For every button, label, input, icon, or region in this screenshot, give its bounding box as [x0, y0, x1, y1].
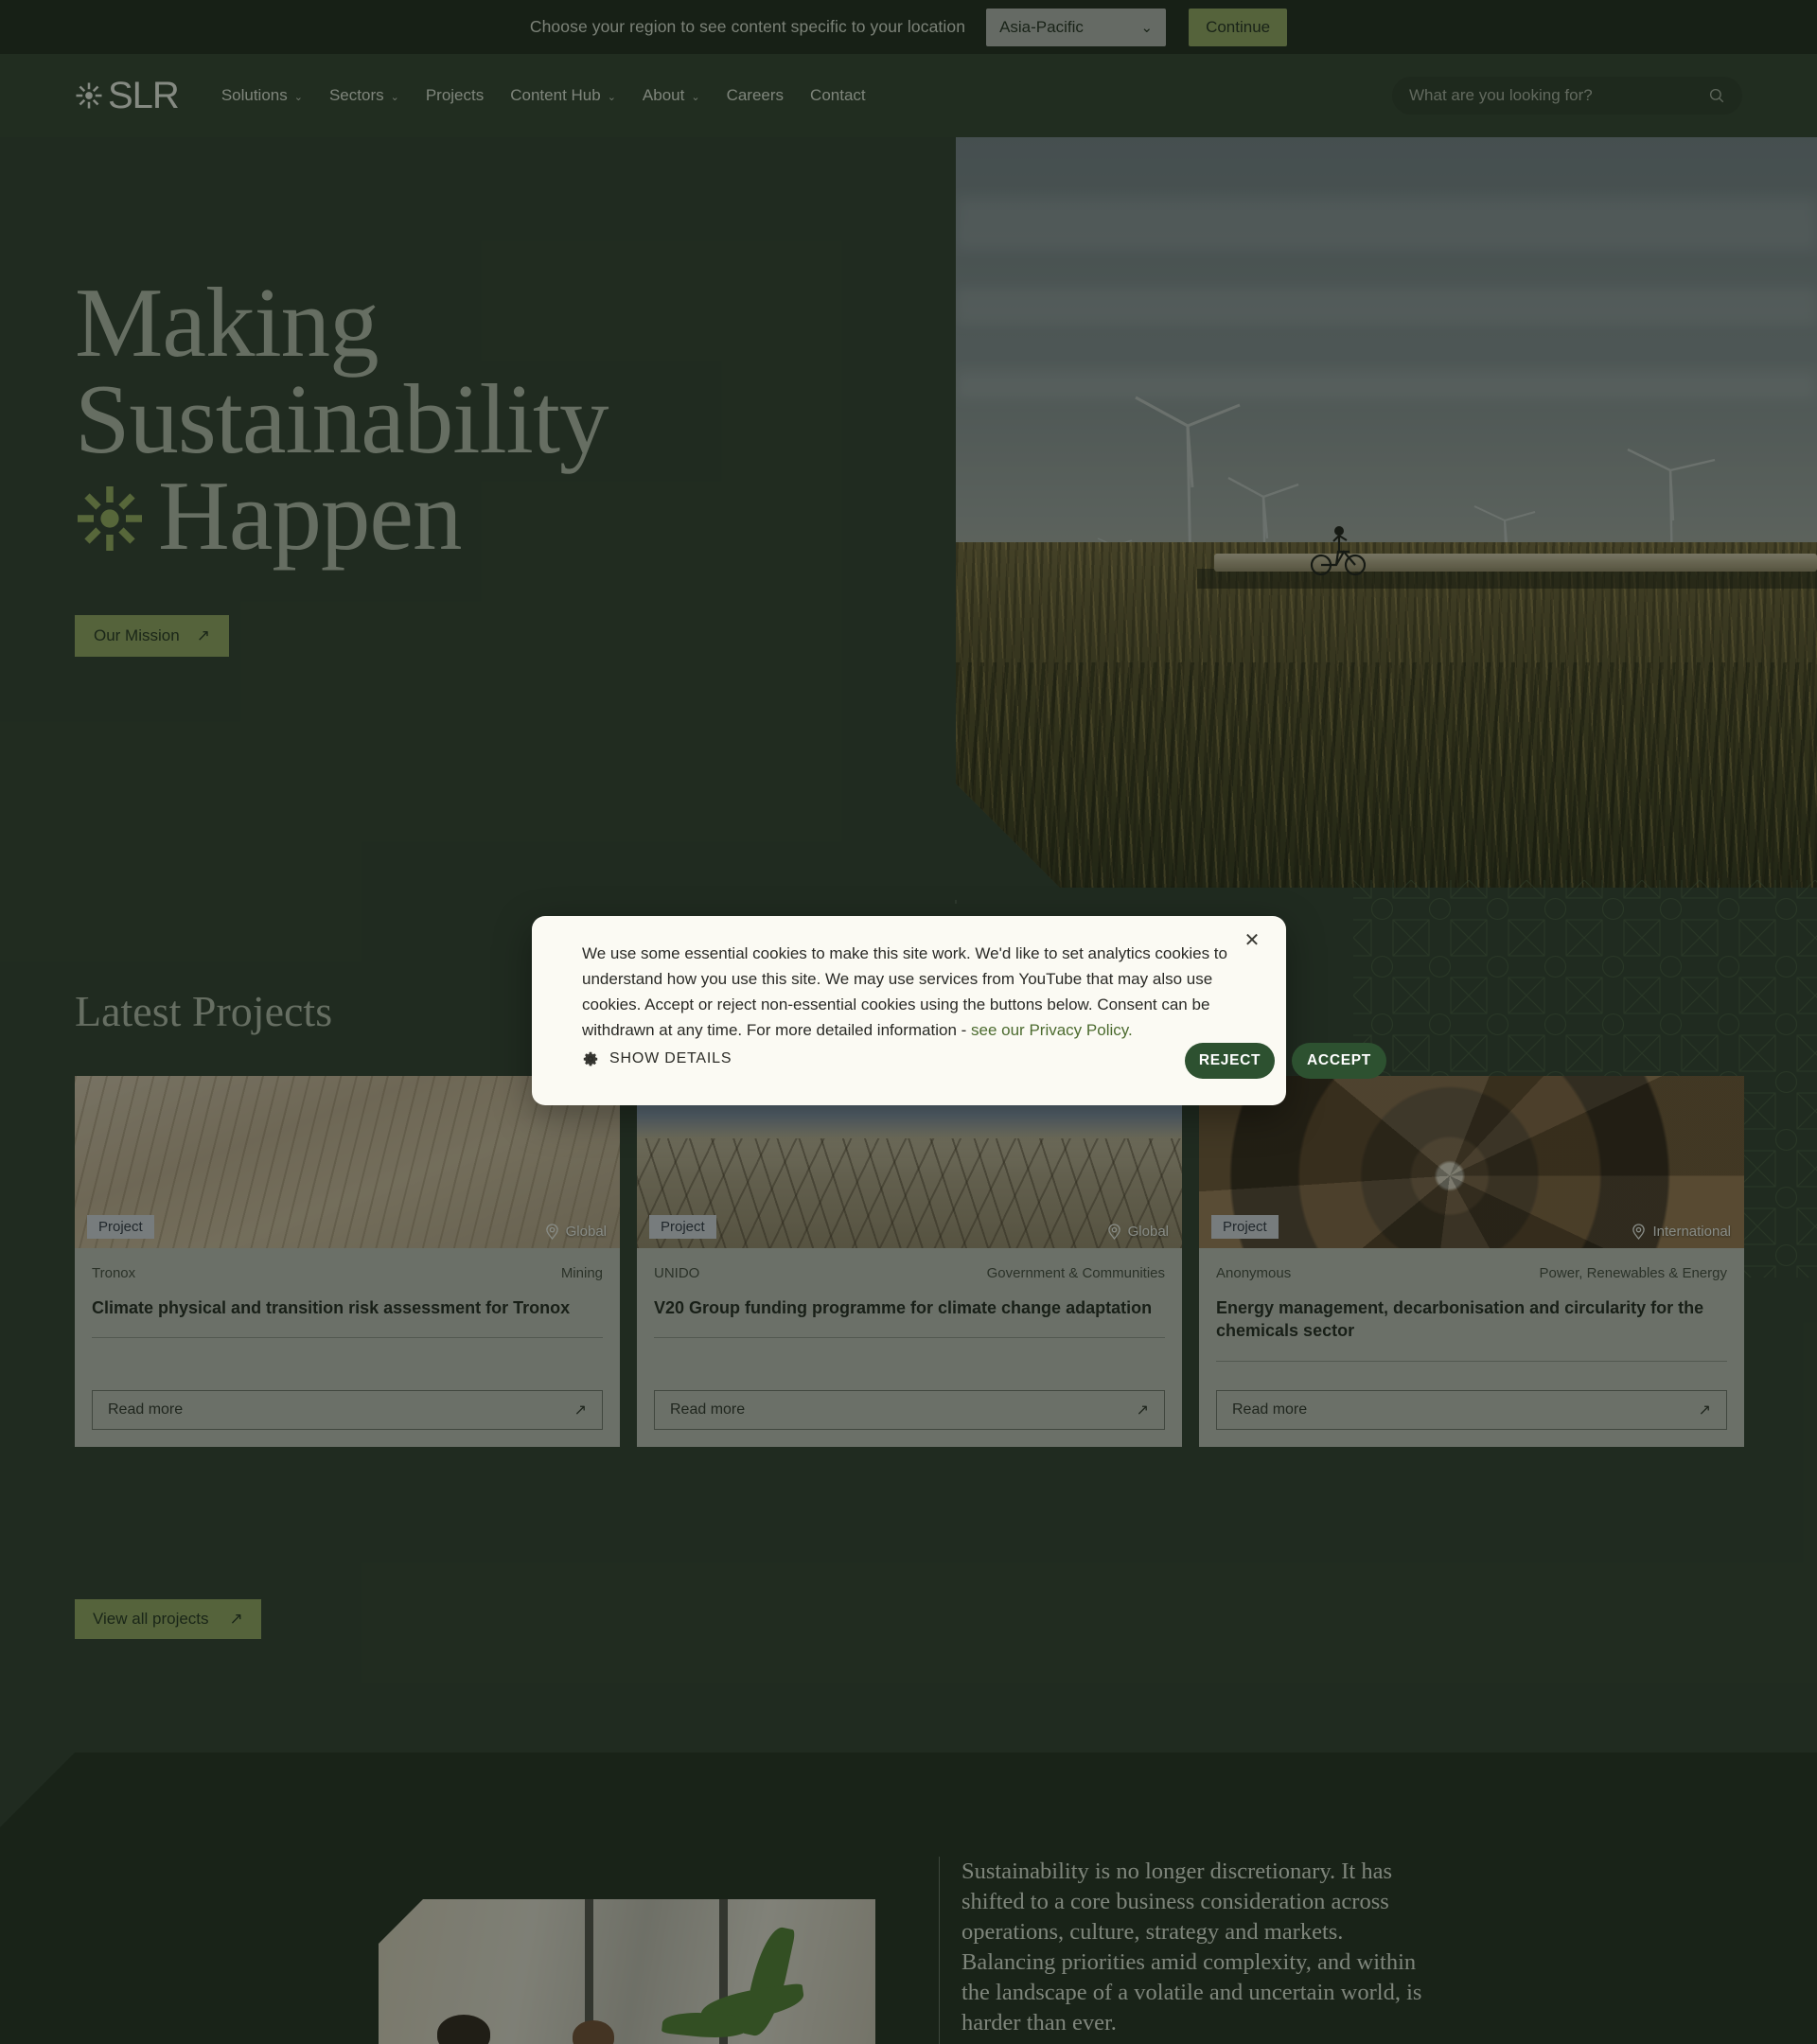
- cookie-consent-banner: ✕ We use some essential cookies to make …: [532, 916, 1286, 1105]
- intro-section: [0, 1753, 1817, 2044]
- view-all-projects-label: View all projects: [93, 1610, 209, 1629]
- nav-label: Contact: [810, 86, 866, 105]
- show-details-button[interactable]: SHOW DETAILS: [582, 1050, 732, 1067]
- project-location: International: [1632, 1224, 1731, 1240]
- divider: [654, 1337, 1165, 1338]
- arrow-up-right-icon: ↗: [1137, 1401, 1149, 1419]
- project-title: Energy management, decarbonisation and c…: [1216, 1296, 1727, 1343]
- close-icon[interactable]: ✕: [1239, 927, 1265, 954]
- intro-text-block: Sustainability is no longer discretionar…: [961, 1857, 1435, 2044]
- project-card-body: UNIDO Government & Communities V20 Group…: [637, 1248, 1182, 1390]
- search-icon[interactable]: [1708, 87, 1725, 104]
- person-head: [437, 2015, 490, 2044]
- hero-image: [956, 137, 1817, 888]
- chevron-down-icon: ⌄: [294, 91, 303, 103]
- project-card-meta: Tronox Mining: [92, 1265, 603, 1281]
- intro-image: [379, 1899, 875, 2044]
- view-all-projects-button[interactable]: View all projects ↗: [75, 1599, 261, 1639]
- our-mission-button[interactable]: Our Mission ↗: [75, 615, 229, 657]
- region-continue-button[interactable]: Continue: [1189, 9, 1287, 46]
- section-title-latest-projects: Latest Projects: [75, 986, 332, 1036]
- chevron-down-icon: ⌄: [391, 91, 399, 103]
- project-location: Global: [545, 1224, 607, 1240]
- read-more-button[interactable]: Read more ↗: [1216, 1390, 1727, 1430]
- read-more-button[interactable]: Read more ↗: [92, 1390, 603, 1430]
- nav-item-content-hub[interactable]: Content Hub ⌄: [497, 86, 629, 105]
- location-label: Global: [1128, 1224, 1169, 1240]
- region-prompt-text: Choose your region to see content specif…: [530, 17, 965, 37]
- project-card-body: Anonymous Power, Renewables & Energy Ene…: [1199, 1248, 1744, 1390]
- nav-item-contact[interactable]: Contact: [797, 86, 879, 105]
- logo-wordmark: SLR: [108, 77, 179, 115]
- location-label: International: [1652, 1224, 1731, 1240]
- privacy-policy-link[interactable]: see our Privacy Policy.: [971, 1021, 1133, 1039]
- project-card-meta: Anonymous Power, Renewables & Energy: [1216, 1265, 1727, 1281]
- reject-cookies-button[interactable]: REJECT: [1185, 1043, 1275, 1079]
- hero-title-line-1: Making: [75, 274, 926, 371]
- gear-icon: [582, 1050, 599, 1067]
- arrow-up-right-icon: ↗: [1699, 1401, 1711, 1419]
- location-pin-icon: [1107, 1224, 1121, 1240]
- project-client: Anonymous: [1216, 1265, 1291, 1281]
- nav-label: Sectors: [329, 86, 384, 105]
- nav-label: Careers: [727, 86, 784, 105]
- search-box[interactable]: What are you looking for?: [1392, 77, 1742, 115]
- arrow-up-right-icon: ↗: [574, 1401, 587, 1419]
- cyclist-icon: [1300, 523, 1385, 580]
- read-more-label: Read more: [1232, 1401, 1307, 1418]
- project-client: UNIDO: [654, 1265, 699, 1281]
- project-client: Tronox: [92, 1265, 135, 1281]
- main-navigation: Solutions ⌄ Sectors ⌄ Projects Content H…: [208, 86, 879, 105]
- divider: [92, 1337, 603, 1338]
- project-location: Global: [1107, 1224, 1169, 1240]
- location-pin-icon: [545, 1224, 559, 1240]
- show-details-label: SHOW DETAILS: [609, 1050, 732, 1067]
- hero-text-block: Making Sustainability Ha: [75, 274, 926, 657]
- status-badge: Project: [87, 1215, 154, 1239]
- hero-title-line-3-row: Happen: [75, 467, 926, 564]
- vertical-divider: [939, 1857, 940, 2044]
- project-sector: Power, Renewables & Energy: [1540, 1265, 1727, 1281]
- our-mission-label: Our Mission: [94, 626, 180, 645]
- chevron-down-icon: ⌄: [691, 91, 699, 103]
- site-header: SLR Solutions ⌄ Sectors ⌄ Projects Conte…: [0, 54, 1817, 137]
- region-select-wrapper: Asia-Pacific ⌄: [986, 9, 1166, 46]
- project-card[interactable]: Project Global UNIDO Government & Commun…: [637, 1076, 1182, 1447]
- nav-label: Projects: [426, 86, 484, 105]
- nav-item-sectors[interactable]: Sectors ⌄: [316, 86, 413, 105]
- hero-grass-foreground: [956, 662, 1817, 888]
- nav-item-projects[interactable]: Projects: [413, 86, 497, 105]
- nav-label: About: [643, 86, 684, 105]
- project-title: Climate physical and transition risk ass…: [92, 1296, 603, 1319]
- person-head: [573, 2020, 614, 2044]
- project-card-meta: UNIDO Government & Communities: [654, 1265, 1165, 1281]
- status-badge: Project: [649, 1215, 716, 1239]
- hero-title-line-3: Happen: [158, 467, 462, 564]
- project-card-body: Tronox Mining Climate physical and trans…: [75, 1248, 620, 1390]
- read-more-button[interactable]: Read more ↗: [654, 1390, 1165, 1430]
- hero-path-shadow: [1197, 569, 1817, 589]
- nav-item-solutions[interactable]: Solutions ⌄: [208, 86, 316, 105]
- project-title: V20 Group funding programme for climate …: [654, 1296, 1165, 1319]
- project-card-list: Project Global Tronox Mining Climate phy…: [75, 1076, 1744, 1447]
- hero-section: Making Sustainability Ha: [0, 137, 1817, 904]
- arrow-up-right-icon: ↗: [197, 627, 210, 643]
- read-more-label: Read more: [670, 1401, 745, 1418]
- cookie-banner-text: We use some essential cookies to make th…: [582, 942, 1235, 1043]
- arrow-up-right-icon: ↗: [230, 1610, 243, 1629]
- search-input[interactable]: What are you looking for?: [1409, 86, 1708, 105]
- project-sector: Mining: [561, 1265, 603, 1281]
- slr-asterisk-mark-icon: [75, 81, 103, 110]
- slr-logo[interactable]: SLR: [75, 77, 179, 115]
- read-more-label: Read more: [108, 1401, 183, 1418]
- project-sector: Government & Communities: [987, 1265, 1165, 1281]
- intro-lead-paragraph: Sustainability is no longer discretionar…: [961, 1857, 1435, 2039]
- chevron-down-icon: ⌄: [608, 91, 616, 103]
- nav-item-about[interactable]: About ⌄: [629, 86, 714, 105]
- region-select[interactable]: Asia-Pacific: [986, 9, 1166, 46]
- nav-label: Solutions: [221, 86, 288, 105]
- nav-label: Content Hub: [510, 86, 600, 105]
- nav-item-careers[interactable]: Careers: [714, 86, 797, 105]
- project-card[interactable]: Project Global Tronox Mining Climate phy…: [75, 1076, 620, 1447]
- asterisk-star-icon: [75, 484, 145, 554]
- status-badge: Project: [1211, 1215, 1279, 1239]
- location-label: Global: [566, 1224, 607, 1240]
- page-title: Making Sustainability Ha: [75, 274, 926, 564]
- project-card[interactable]: Project International Anonymous Power, R…: [1199, 1076, 1744, 1447]
- divider: [1216, 1361, 1727, 1362]
- location-pin-icon: [1632, 1224, 1646, 1240]
- accept-cookies-button[interactable]: ACCEPT: [1292, 1043, 1386, 1079]
- hero-title-line-2: Sustainability: [75, 371, 926, 467]
- region-selector-bar: Choose your region to see content specif…: [0, 0, 1817, 54]
